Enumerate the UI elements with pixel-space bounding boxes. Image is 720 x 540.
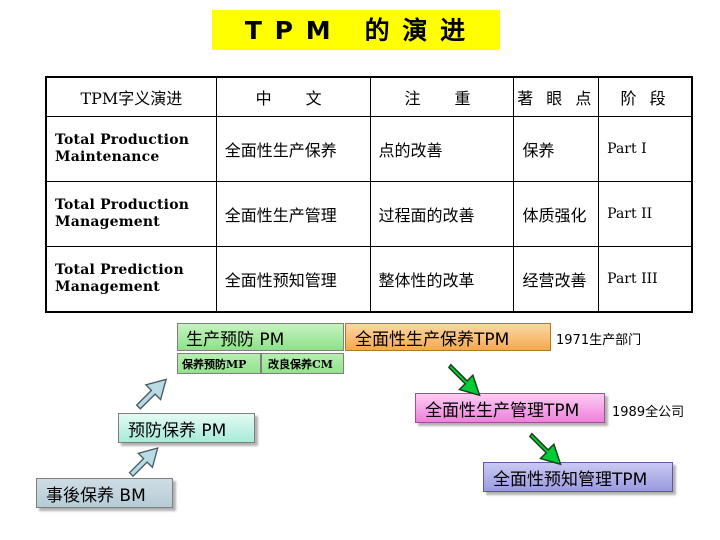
cell-stage: Part III — [599, 247, 692, 313]
cell-chinese: 全面性生产管理 — [216, 182, 370, 247]
column-header-term: TPM字义演进 — [46, 77, 216, 117]
cell-term: Total Production Maintenance — [46, 117, 216, 182]
page-title-banner: T P M 的 演 进 — [212, 10, 500, 50]
diagram-box-preventive-maintenance-label: 预防保养 PM — [128, 416, 254, 441]
term-line-2: Management — [55, 279, 216, 297]
tpm-evolution-table: TPM字义演进 中 文 注 重 著 眼 点 阶 段 Total Producti… — [45, 76, 693, 313]
term-line-1: Total Prediction — [55, 262, 216, 280]
cell-term: Total Production Management — [46, 182, 216, 247]
column-header-chinese: 中 文 — [216, 77, 370, 117]
cell-stage: Part I — [599, 117, 692, 182]
column-header-focus: 注 重 — [370, 77, 514, 117]
term-line-1: Total Production — [55, 132, 216, 150]
cell-focus: 过程面的改善 — [370, 182, 514, 247]
cell-chinese: 全面性预知管理 — [216, 247, 370, 313]
term-line-1: Total Production — [55, 197, 216, 215]
diagram-box-maintenance-prevention-label: 保养预防MP — [182, 356, 260, 372]
diagram-box-tpm-maintenance-label: 全面性生产保养TPM — [355, 325, 550, 350]
page-title: T P M 的 演 进 — [245, 18, 467, 43]
cell-viewpoint: 保养 — [514, 117, 599, 182]
term-line-2: Maintenance — [55, 149, 216, 167]
column-header-stage: 阶 段 — [599, 77, 692, 117]
diagram-box-tpm-prediction-label: 全面性预知管理TPM — [493, 465, 672, 490]
diagram-box-tpm-management: 全面性生产管理TPM — [415, 393, 605, 423]
cell-focus: 整体性的改革 — [370, 247, 514, 313]
cell-term: Total Prediction Management — [46, 247, 216, 313]
arrow-down-right-icon — [527, 424, 575, 472]
cell-viewpoint: 体质强化 — [514, 182, 599, 247]
diagram-box-production-prevention: 生产预防 PM — [177, 323, 344, 351]
table-header-row: TPM字义演进 中 文 注 重 著 眼 点 阶 段 — [46, 77, 692, 117]
diagram-box-corrective-maintenance-label: 改良保养CM — [268, 356, 343, 372]
arrow-up-right-icon — [126, 441, 170, 485]
diagram-box-maintenance-prevention: 保养预防MP — [177, 353, 261, 374]
table-row: Total Production Management 全面性生产管理 过程面的… — [46, 182, 692, 247]
diagram-box-production-prevention-label: 生产预防 PM — [186, 325, 343, 350]
cell-focus: 点的改善 — [370, 117, 514, 182]
annotation-1971: 1971生产部门 — [556, 329, 641, 348]
term-line-2: Management — [55, 214, 216, 232]
cell-stage: Part II — [599, 182, 692, 247]
cell-viewpoint: 经营改善 — [514, 247, 599, 313]
diagram-box-tpm-maintenance: 全面性生产保养TPM — [345, 323, 551, 351]
arrow-up-right-icon — [133, 372, 179, 418]
annotation-1989: 1989全公司 — [612, 401, 684, 420]
arrow-down-right-icon — [446, 355, 494, 403]
diagram-box-corrective-maintenance: 改良保养CM — [261, 353, 344, 374]
cell-chinese: 全面性生产保养 — [216, 117, 370, 182]
table-row: Total Production Maintenance 全面性生产保养 点的改… — [46, 117, 692, 182]
diagram-box-tpm-prediction: 全面性预知管理TPM — [483, 462, 673, 492]
table-row: Total Prediction Management 全面性预知管理 整体性的… — [46, 247, 692, 313]
column-header-viewpoint: 著 眼 点 — [514, 77, 599, 117]
